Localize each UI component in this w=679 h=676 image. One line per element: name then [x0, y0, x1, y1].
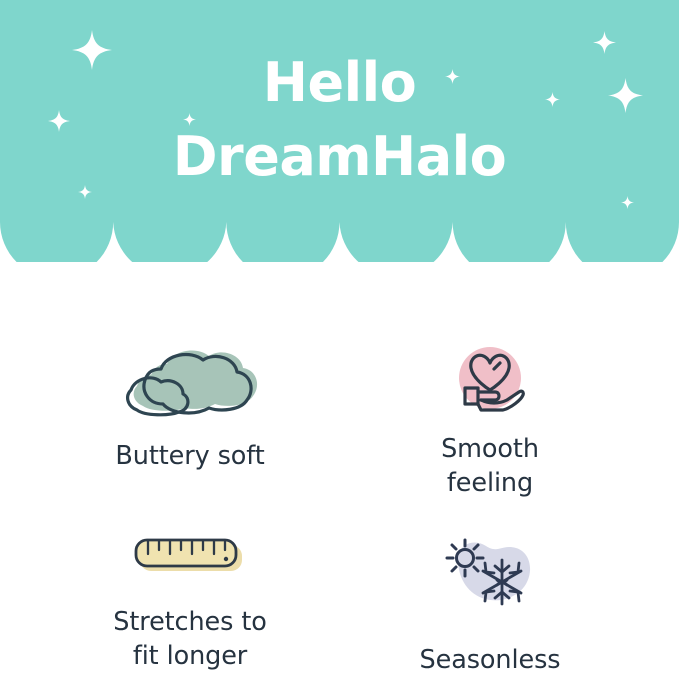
feature-label-buttery-soft: Buttery soft [30, 439, 350, 473]
page-title-line-2: DreamHalo [0, 120, 679, 194]
hand-holding-heart-icon [340, 342, 640, 422]
feature-item-smooth-feeling: Smooth feeling [340, 342, 640, 500]
feature-label-smooth-feeling: Smooth feeling [340, 432, 640, 500]
promo-graphic: Hello DreamHalo [0, 0, 679, 676]
feature-item-buttery-soft: Buttery soft [30, 342, 350, 473]
sparkle-tiny-bottom-right-icon [621, 196, 634, 209]
feature-item-stretches: Stretches to fit longer [30, 530, 350, 673]
page-title-line-1: Hello [0, 46, 679, 120]
feature-grid: Buttery soft [0, 262, 679, 676]
page-title: Hello DreamHalo [0, 46, 679, 194]
feature-label-seasonless: Seasonless [340, 643, 640, 676]
ruler-icon [30, 530, 350, 585]
feature-label-stretches: Stretches to fit longer [30, 605, 350, 673]
header-banner: Hello DreamHalo [0, 0, 679, 262]
cloud-icon [30, 342, 350, 427]
feature-item-seasonless: Seasonless [340, 530, 640, 676]
sun-snowflake-icon [340, 530, 640, 615]
